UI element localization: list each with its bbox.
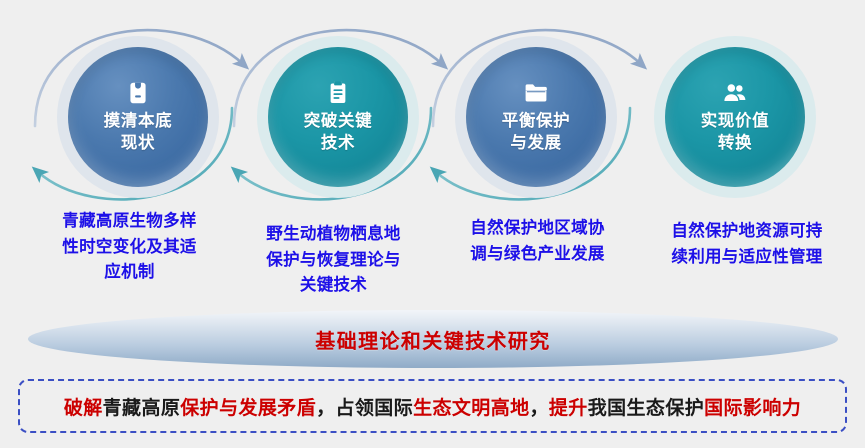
caption-node-4: 自然保护地资源可持 续利用与适应性管理 xyxy=(633,219,861,270)
caption-node-3: 自然保护地区域协 调与绿色产业发展 xyxy=(430,216,645,267)
clipboard-icon xyxy=(325,80,351,106)
node-2-label: 突破关键 技术 xyxy=(304,111,372,153)
goal-segment-5: 生态文明高地 xyxy=(413,398,529,419)
goal-segment-7: 提升 xyxy=(549,398,588,419)
node-3[interactable]: 平衡保护 与发展 xyxy=(455,36,617,198)
caption-node-1: 青藏高原生物多样 性时空变化及其适 应机制 xyxy=(22,209,237,286)
node-2-disc[interactable]: 突破关键 技术 xyxy=(268,47,408,187)
goal-segment-0: 破解 xyxy=(64,398,103,419)
goal-statement-box: 破解青藏高原保护与发展矛盾，占领国际生态文明高地，提升我国生态保护国际影响力 xyxy=(18,379,847,433)
summary-banner: 基础理论和关键技术研究 xyxy=(28,310,838,368)
box-smile-icon xyxy=(125,80,151,106)
diagram-canvas: 摸清本底 现状 突破关键 技术 xyxy=(0,0,865,448)
people-icon xyxy=(722,80,748,106)
goal-segment-3: ， xyxy=(316,398,335,419)
folder-icon xyxy=(523,80,549,106)
node-4-disc[interactable]: 实现价值 转换 xyxy=(665,47,805,187)
node-3-label: 平衡保护 与发展 xyxy=(502,111,570,153)
goal-segment-9: 国际影响力 xyxy=(704,398,801,419)
caption-node-2: 野生动植物栖息地 保护与恢复理论与 关键技术 xyxy=(226,222,441,299)
goal-statement-text: 破解青藏高原保护与发展矛盾，占领国际生态文明高地，提升我国生态保护国际影响力 xyxy=(64,393,801,420)
node-1[interactable]: 摸清本底 现状 xyxy=(57,36,219,198)
goal-segment-6: ， xyxy=(530,398,549,419)
node-4-label: 实现价值 转换 xyxy=(701,111,769,153)
goal-segment-2: 保护与发展矛盾 xyxy=(180,398,316,419)
node-1-label: 摸清本底 现状 xyxy=(104,111,172,153)
node-3-disc[interactable]: 平衡保护 与发展 xyxy=(466,47,606,187)
goal-segment-8: 我国生态保护 xyxy=(588,398,704,419)
node-4[interactable]: 实现价值 转换 xyxy=(654,36,816,198)
summary-banner-label: 基础理论和关键技术研究 xyxy=(315,325,550,354)
node-2[interactable]: 突破关键 技术 xyxy=(257,36,419,198)
node-1-disc[interactable]: 摸清本底 现状 xyxy=(68,47,208,187)
goal-segment-1: 青藏高原 xyxy=(103,398,181,419)
goal-segment-4: 占领国际 xyxy=(335,398,413,419)
